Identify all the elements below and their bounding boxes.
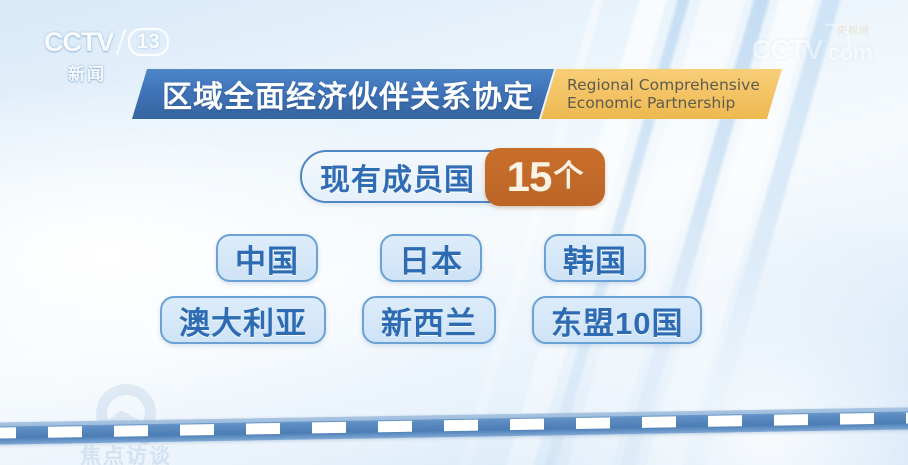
- country-chip: 中国: [216, 234, 318, 282]
- title-banner-english-section: Regional Comprehensive Economic Partners…: [541, 69, 782, 119]
- country-chip: 日本: [380, 234, 482, 282]
- cctv-wordmark: CCTV: [44, 27, 114, 58]
- title-banner: 区域全面经济伙伴关系协定 Regional Comprehensive Econ…: [132, 69, 782, 119]
- member-count-badge: 15 个: [485, 148, 605, 206]
- title-banner-chinese-section: 区域全面经济伙伴关系协定: [132, 69, 554, 119]
- country-name: 东盟10国: [551, 298, 683, 343]
- country-chip: 东盟10国: [532, 296, 702, 344]
- member-count-pill: 现有成员国 15 个: [300, 150, 601, 203]
- channel-name-label: 新闻: [68, 60, 106, 85]
- banner-title-en-line2: Economic Partnership: [567, 94, 760, 112]
- country-chip: 澳大利亚: [160, 296, 326, 344]
- logo-top-row: CCTV 13: [44, 27, 184, 57]
- logo-divider: [115, 29, 125, 55]
- country-name: 新西兰: [381, 298, 477, 343]
- member-count-label: 现有成员国: [320, 155, 485, 199]
- watermark-cctv-text: CCTV: [751, 34, 821, 66]
- country-chip: 韩国: [544, 234, 646, 282]
- broadcast-graphic-stage: CCTV 13 新闻 CCTV com 央视网 区域全面经济伙伴关系协定 Reg…: [0, 0, 908, 465]
- country-chip-row-2: 澳大利亚 新西兰 东盟10国: [160, 296, 702, 344]
- country-chip: 新西兰: [362, 296, 496, 344]
- banner-title-cn: 区域全面经济伙伴关系协定: [162, 72, 534, 116]
- channel-number: 13: [128, 28, 169, 56]
- country-chip-row-1: 中国 日本 韩国: [216, 234, 646, 282]
- banner-title-en-line1: Regional Comprehensive: [567, 76, 760, 94]
- member-count-number: 15: [507, 156, 552, 198]
- cctv-com-watermark: CCTV com 央视网: [751, 28, 872, 66]
- country-name: 日本: [399, 236, 463, 281]
- program-name-label: 焦点访谈: [80, 440, 172, 465]
- member-count-unit: 个: [553, 162, 583, 192]
- country-name: 中国: [235, 236, 299, 281]
- country-name: 韩国: [563, 236, 627, 281]
- watermark-chinese-text: 央视网: [837, 22, 870, 37]
- country-name: 澳大利亚: [179, 298, 307, 343]
